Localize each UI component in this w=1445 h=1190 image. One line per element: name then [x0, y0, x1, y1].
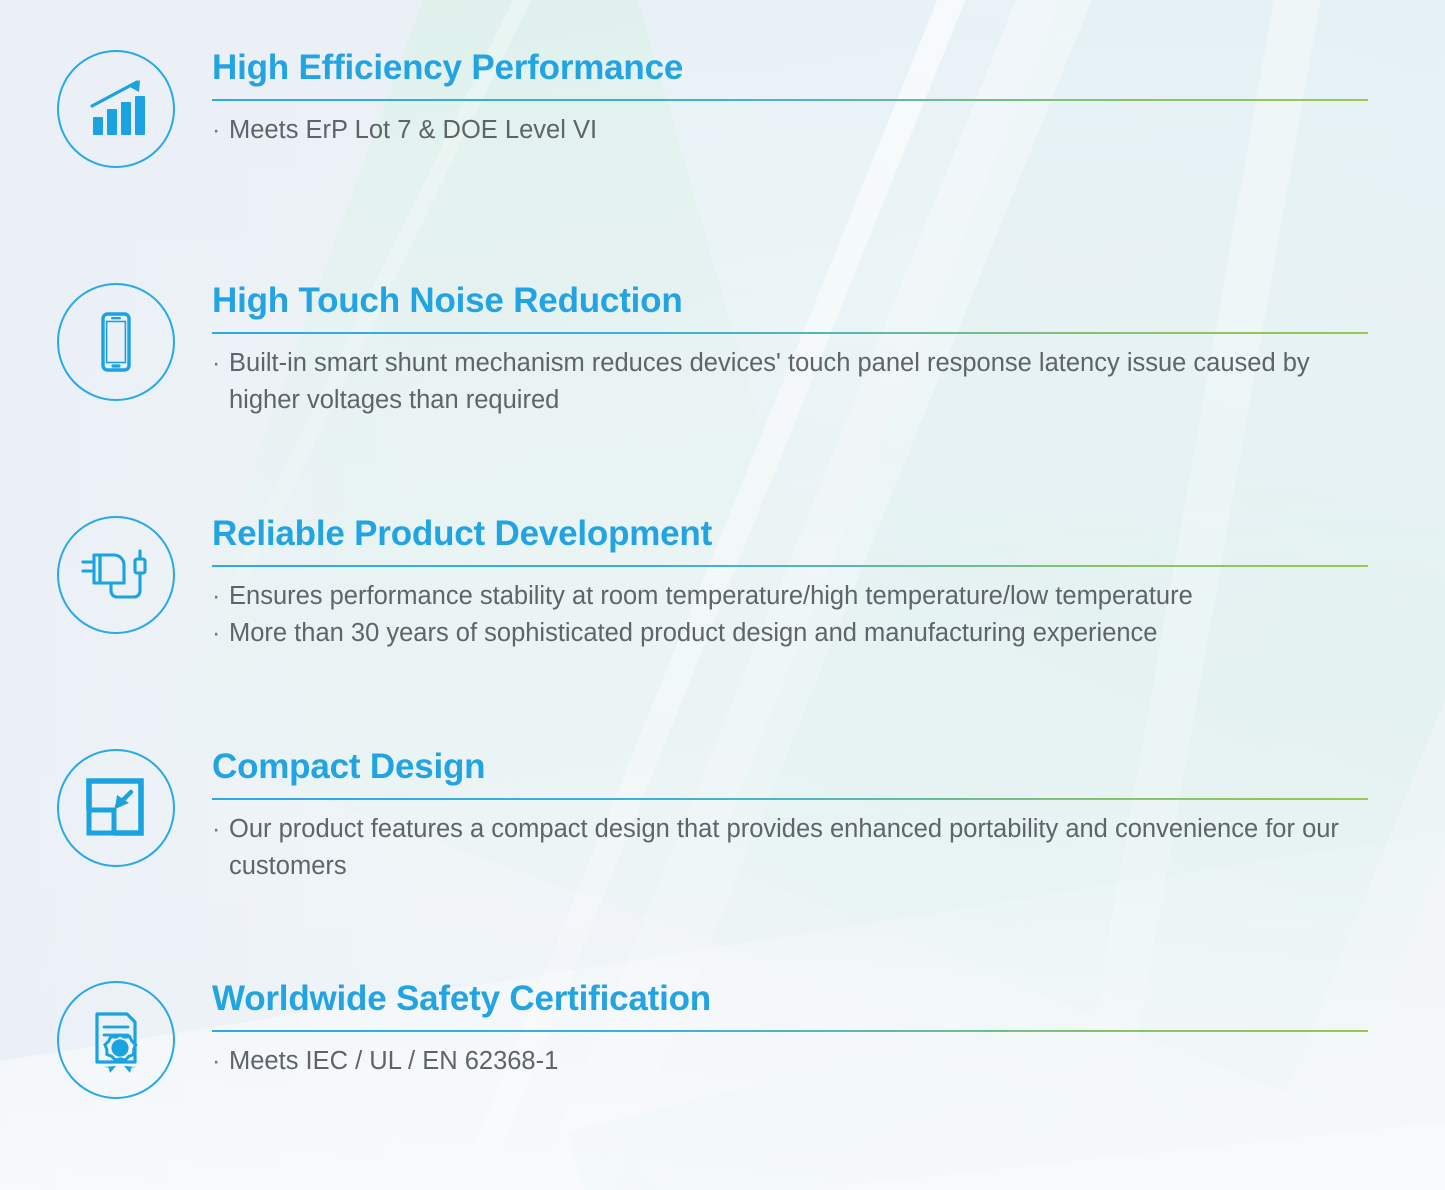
- bullet-marker: ·: [212, 345, 229, 382]
- bullet-text: Meets ErP Lot 7 & DOE Level VI: [229, 112, 1375, 149]
- feature-item-high-touch-noise-reduction: High Touch Noise Reduction · Built-in sm…: [0, 283, 1445, 420]
- feature-icon-wrap: [55, 516, 177, 634]
- background-bottom-band: [0, 1099, 1445, 1190]
- bullet-text: Built-in smart shunt mechanism reduces d…: [229, 345, 1375, 420]
- feature-body: High Touch Noise Reduction · Built-in sm…: [212, 283, 1445, 420]
- bullet-marker: ·: [212, 811, 229, 848]
- feature-divider: [212, 798, 1368, 800]
- bullet-marker: ·: [212, 112, 229, 149]
- certificate-seal-icon: [57, 981, 175, 1099]
- bullet-text: Ensures performance stability at room te…: [229, 578, 1375, 615]
- feature-body: Reliable Product Development · Ensures p…: [212, 516, 1445, 653]
- feature-highlights-page: High Efficiency Performance · Meets ErP …: [0, 0, 1445, 1190]
- power-adapter-icon: [57, 516, 175, 634]
- bar-chart-growth-icon: [57, 50, 175, 168]
- feature-bullet-list: · Meets IEC / UL / EN 62368-1: [212, 1043, 1375, 1080]
- feature-body: Worldwide Safety Certification · Meets I…: [212, 981, 1445, 1080]
- feature-bullet: · Our product features a compact design …: [212, 811, 1375, 886]
- bullet-text: More than 30 years of sophisticated prod…: [229, 615, 1375, 652]
- feature-divider: [212, 99, 1368, 101]
- feature-bullet-list: · Ensures performance stability at room …: [212, 578, 1375, 653]
- bullet-marker: ·: [212, 1043, 229, 1080]
- feature-title: High Touch Noise Reduction: [212, 283, 1375, 320]
- bullet-text: Our product features a compact design th…: [229, 811, 1375, 886]
- feature-title: High Efficiency Performance: [212, 50, 1375, 87]
- feature-icon-wrap: [55, 283, 177, 401]
- bullet-text: Meets IEC / UL / EN 62368-1: [229, 1043, 1375, 1080]
- feature-divider: [212, 1030, 1368, 1032]
- smartphone-icon: [57, 283, 175, 401]
- feature-item-reliable-product-development: Reliable Product Development · Ensures p…: [0, 516, 1445, 653]
- feature-bullet: · Meets IEC / UL / EN 62368-1: [212, 1043, 1375, 1080]
- feature-divider: [212, 332, 1368, 334]
- feature-bullet-list: · Meets ErP Lot 7 & DOE Level VI: [212, 112, 1375, 149]
- feature-item-high-efficiency-performance: High Efficiency Performance · Meets ErP …: [0, 50, 1445, 168]
- feature-title: Worldwide Safety Certification: [212, 981, 1375, 1018]
- bullet-marker: ·: [212, 615, 229, 652]
- feature-divider: [212, 565, 1368, 567]
- feature-body: High Efficiency Performance · Meets ErP …: [212, 50, 1445, 149]
- feature-item-worldwide-safety-certification: Worldwide Safety Certification · Meets I…: [0, 981, 1445, 1099]
- feature-icon-wrap: [55, 50, 177, 168]
- feature-bullet-list: · Built-in smart shunt mechanism reduces…: [212, 345, 1375, 420]
- feature-bullet: · Ensures performance stability at room …: [212, 578, 1375, 615]
- feature-bullet-list: · Our product features a compact design …: [212, 811, 1375, 886]
- compact-resize-icon: [57, 749, 175, 867]
- feature-bullet: · Built-in smart shunt mechanism reduces…: [212, 345, 1375, 420]
- feature-title: Reliable Product Development: [212, 516, 1375, 553]
- feature-icon-wrap: [55, 749, 177, 867]
- feature-icon-wrap: [55, 981, 177, 1099]
- feature-body: Compact Design · Our product features a …: [212, 749, 1445, 886]
- bullet-marker: ·: [212, 578, 229, 615]
- feature-bullet: · Meets ErP Lot 7 & DOE Level VI: [212, 112, 1375, 149]
- feature-item-compact-design: Compact Design · Our product features a …: [0, 749, 1445, 886]
- feature-title: Compact Design: [212, 749, 1375, 786]
- feature-bullet: · More than 30 years of sophisticated pr…: [212, 615, 1375, 652]
